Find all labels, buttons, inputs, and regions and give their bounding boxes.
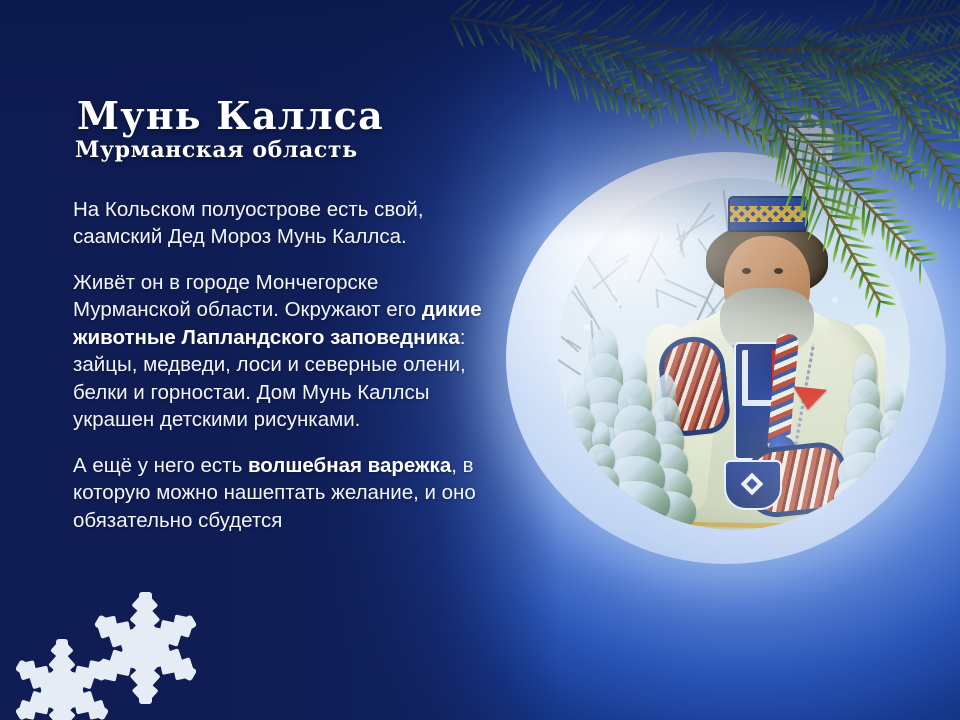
pine-needle — [849, 70, 864, 85]
pine-needle — [937, 49, 960, 77]
pine-needle — [616, 45, 646, 57]
pine-needle — [732, 56, 755, 104]
pine-needle — [623, 89, 644, 96]
pine-needle — [803, 29, 822, 50]
pine-needle — [597, 45, 607, 73]
pine-needle — [770, 95, 819, 102]
pine-needle — [880, 62, 899, 77]
pine-needle — [830, 52, 846, 88]
pine-needle — [807, 30, 834, 44]
page-subtitle: Мурманская область — [75, 138, 498, 162]
pine-needle — [765, 49, 791, 87]
pine-needle — [687, 1, 729, 50]
pine-needle — [596, 37, 622, 74]
pine-needle — [766, 21, 799, 62]
pine-needle — [816, 93, 851, 101]
pine-needle — [956, 106, 960, 117]
pine-needle — [869, 33, 886, 50]
pine-needle — [917, 79, 955, 97]
pine-needle — [727, 25, 746, 50]
pine-needle — [893, 60, 924, 88]
pine-needle — [588, 40, 600, 66]
pine-needle — [710, 41, 715, 61]
pine-needle — [751, 88, 759, 134]
pine-needle — [843, 114, 886, 123]
pine-needle — [622, 94, 630, 116]
pine-needle — [755, 90, 774, 97]
pine-needle — [613, 89, 619, 114]
pine-needle — [698, 51, 724, 109]
pine-needle — [821, 32, 839, 51]
body-text: На Кольском полуострове есть свой, саамс… — [73, 196, 498, 535]
pine-needle — [902, 116, 909, 141]
pine-needle — [938, 13, 960, 33]
pine-needle — [752, 126, 774, 133]
pine-needle — [831, 48, 845, 67]
pine-needle — [727, 48, 755, 81]
pine-needle — [687, 49, 721, 109]
pine-needle — [907, 115, 940, 122]
pine-needle — [933, 97, 955, 104]
pine-needle — [905, 0, 927, 21]
pine-needle — [894, 71, 934, 85]
body-text-run: А ещё у него есть — [73, 454, 248, 477]
pine-needle — [789, 63, 809, 93]
pine-needle — [878, 63, 902, 86]
pine-needle — [605, 75, 627, 85]
pine-needle — [857, 59, 876, 75]
pine-needle — [812, 49, 827, 69]
pine-needle — [755, 48, 783, 75]
pine-twig — [690, 48, 870, 51]
pine-needle — [915, 24, 932, 56]
pine-needle — [947, 111, 956, 130]
pine-needle — [945, 47, 960, 66]
pine-needle — [721, 54, 747, 95]
pine-needle — [880, 0, 899, 25]
pine-needle — [643, 57, 690, 73]
pine-needle — [634, 51, 674, 67]
pine-needle — [925, 90, 954, 101]
pine-needle — [630, 0, 677, 43]
pine-needle — [886, 27, 907, 62]
pine-needle — [579, 50, 622, 70]
pine-needle — [891, 58, 914, 79]
pine-needle — [679, 77, 712, 91]
snowflake-sub-branch — [22, 707, 36, 719]
pine-needle — [597, 4, 637, 39]
pine-needle — [709, 52, 749, 107]
pine-needle — [861, 68, 879, 110]
pine-needle — [766, 60, 791, 113]
pine-needle — [578, 68, 589, 99]
pine-needle — [901, 58, 936, 85]
pine-needle — [914, 80, 927, 105]
pine-needle — [696, 100, 709, 137]
pine-needle — [822, 49, 830, 79]
pine-needle — [902, 63, 925, 81]
pine-needle — [929, 0, 945, 16]
pine-twig — [840, 6, 960, 33]
pine-needle — [653, 45, 686, 104]
pine-needle — [932, 103, 943, 124]
pine-needle — [720, 44, 746, 49]
pine-needle — [850, 35, 866, 51]
pine-needle — [775, 68, 782, 90]
pine-needle — [585, 2, 631, 37]
pine-needle — [783, 72, 812, 76]
pine-needle — [750, 80, 770, 87]
pine-needle — [846, 40, 888, 62]
pine-needle — [892, 84, 901, 121]
pine-needle — [908, 28, 929, 58]
pine-needle — [846, 60, 860, 108]
pine-needle — [706, 99, 738, 107]
pine-needle — [579, 35, 586, 57]
pine-needle — [739, 74, 747, 107]
pine-needle — [784, 14, 814, 50]
pine-needle — [886, 61, 921, 82]
pine-needle — [839, 30, 851, 41]
pine-needle — [841, 48, 855, 66]
pine-needle — [876, 141, 903, 149]
pine-needle — [812, 31, 829, 51]
pine-needle — [838, 56, 852, 101]
pine-needle — [913, 123, 947, 133]
pine-needle — [755, 18, 793, 61]
pine-needle — [573, 34, 606, 90]
pine-needle — [619, 5, 662, 42]
pine-needle — [651, 75, 663, 124]
pine-needle — [839, 16, 851, 32]
pine-needle — [823, 40, 852, 50]
pine-needle — [751, 131, 760, 154]
pine-needle — [946, 12, 960, 24]
pine-needle — [625, 49, 669, 62]
pine-needle — [751, 72, 794, 82]
pine-needle — [562, 32, 584, 72]
pine-needle — [889, 22, 913, 48]
pine-needle — [664, 46, 701, 104]
pine-needle — [569, 63, 579, 102]
pine-needle — [736, 48, 766, 80]
pine-needle — [642, 43, 675, 86]
pine-needle — [955, 181, 960, 187]
pine-needle — [885, 80, 902, 117]
pine-needle — [688, 85, 727, 97]
pine-needle — [736, 26, 759, 50]
pine-needle — [902, 106, 931, 113]
pine-needle — [648, 109, 653, 129]
pine-needle — [650, 102, 668, 111]
pine-needle — [871, 65, 898, 91]
pine-needle — [588, 67, 616, 75]
pine-needle — [793, 48, 820, 76]
pine-needle — [614, 83, 632, 91]
pine-needle — [714, 111, 721, 133]
pine-twig — [850, 36, 960, 73]
pine-needle — [834, 47, 857, 71]
para-2: Живёт он в городе Мончегорске Мурманской… — [73, 269, 498, 434]
pine-needle — [872, 25, 903, 52]
pine-needle — [606, 50, 616, 79]
pine-needle — [630, 42, 654, 83]
pine-needle — [937, 22, 951, 51]
pine-needle — [930, 50, 958, 68]
pine-needle — [579, 29, 597, 38]
pine-needle — [733, 26, 771, 57]
pine-needle — [758, 83, 801, 90]
pine-needle — [641, 97, 662, 106]
pine-needle — [597, 70, 633, 80]
pine-needle — [863, 48, 878, 69]
pine-needle — [789, 32, 816, 65]
ornament-cap-crown-teeth — [786, 150, 832, 166]
pine-needle — [560, 58, 576, 101]
pine-needle — [619, 40, 654, 86]
pine-needle — [923, 52, 959, 82]
pine-needle — [793, 25, 818, 50]
slide-root: Мунь Каллса Мурманская область На Кольск… — [0, 0, 960, 720]
pine-needle — [845, 71, 858, 93]
pine-needle — [769, 63, 774, 80]
pine-needle — [815, 35, 847, 46]
pine-needle — [563, 7, 598, 34]
pine-needle — [850, 113, 894, 127]
pine-needle — [837, 110, 881, 117]
pine-needle — [831, 36, 846, 50]
pine-needle — [877, 76, 893, 112]
pine-needle — [710, 18, 758, 55]
pine-needle — [888, 0, 904, 24]
pine-needle — [922, 25, 939, 54]
pine-needle — [789, 79, 796, 115]
pine-needle — [795, 84, 798, 113]
pine-needle — [886, 61, 935, 82]
pine-needle — [856, 49, 866, 70]
pine-needle — [778, 36, 808, 64]
pine-needle — [868, 74, 887, 101]
pine-needle — [924, 100, 935, 134]
pine-needle — [869, 49, 880, 64]
pine-needle — [615, 55, 628, 98]
pine-needle — [901, 71, 933, 89]
pine-needle — [570, 49, 612, 65]
pine-needle — [803, 82, 843, 92]
pine-needle — [913, 18, 940, 45]
pine-needle — [596, 79, 609, 113]
para-3: А ещё у него есть волшебная варежка, в к… — [73, 452, 498, 535]
pine-needle — [957, 190, 960, 209]
pine-needle — [856, 123, 891, 132]
pine-needle — [847, 15, 859, 31]
pine-needle — [751, 94, 765, 143]
pine-needle — [765, 22, 794, 50]
pine-needle — [745, 66, 782, 75]
pine-needle — [859, 49, 870, 63]
pine-needle — [948, 68, 960, 86]
pine-needle — [930, 15, 950, 36]
pine-needle — [938, 0, 952, 15]
pine-needle — [775, 25, 803, 50]
pine-needle — [940, 97, 960, 109]
pine-needle — [699, 9, 754, 53]
pine-needle — [869, 72, 883, 112]
pine-needle — [921, 0, 940, 18]
pine-needle — [774, 49, 800, 85]
pine-needle — [890, 90, 907, 94]
pine-needle — [806, 41, 818, 65]
snowflake-small-icon — [8, 636, 116, 720]
pine-needle — [675, 48, 703, 97]
pine-needle — [893, 25, 912, 62]
pine-needle — [841, 37, 855, 50]
pine-needle — [676, 11, 710, 50]
pine-needle — [854, 64, 871, 100]
pine-needle — [856, 27, 875, 44]
pine-needle — [717, 49, 737, 76]
pine-needle — [604, 84, 614, 112]
pine-needle — [871, 35, 889, 67]
pine-needle — [810, 88, 842, 96]
pine-needle — [742, 81, 751, 98]
pine-needle — [776, 62, 801, 71]
pine-needle — [944, 24, 960, 49]
pine-needle — [739, 60, 780, 69]
pine-needle — [925, 64, 951, 84]
pine-needle — [870, 59, 912, 74]
pine-needle — [857, 68, 877, 84]
pine-needle — [607, 39, 639, 53]
pine-needle — [862, 51, 895, 69]
pine-needle — [744, 12, 786, 59]
pine-needle — [857, 73, 871, 96]
pine-needle — [815, 45, 825, 68]
pine-needle — [624, 60, 639, 94]
pine-needle — [748, 100, 763, 129]
pine-needle — [796, 79, 831, 86]
pine-needle — [697, 92, 732, 102]
pine-needle — [762, 119, 774, 146]
text-column: Мунь Каллса Мурманская область На Кольск… — [73, 96, 498, 534]
pine-needle — [948, 182, 957, 210]
para-1: На Кольском полуострове есть свой, саамс… — [73, 196, 498, 251]
pine-needle — [670, 73, 704, 87]
snow-covered-tree — [574, 422, 628, 530]
pine-needle — [800, 65, 825, 107]
pine-needle — [864, 26, 893, 47]
pine-needle — [743, 57, 770, 92]
pine-needle — [880, 23, 910, 50]
pine-needle — [688, 95, 700, 135]
pine-needle — [902, 79, 918, 102]
pine-needle — [897, 20, 936, 46]
pine-needle — [955, 116, 960, 139]
pine-needle — [664, 0, 716, 48]
pine-needle — [799, 25, 821, 38]
pine-needle — [762, 110, 769, 141]
pine-needle — [909, 72, 944, 93]
pine-needle — [652, 67, 698, 78]
pine-needle — [760, 101, 771, 149]
pine-needle — [811, 67, 832, 108]
pine-needle — [913, 60, 935, 82]
pine-needle — [706, 105, 717, 132]
pine-needle — [742, 126, 753, 149]
pine-needle — [717, 23, 744, 51]
pine-needle — [930, 25, 942, 52]
pine-needle — [921, 16, 947, 36]
pine-needle — [746, 20, 773, 50]
pine-needle — [830, 98, 879, 112]
pine-needle — [689, 35, 701, 50]
pine-needle — [878, 56, 926, 77]
pine-needle — [940, 107, 950, 130]
pine-needle — [916, 96, 922, 127]
pine-needle — [790, 77, 821, 80]
pine-needle — [724, 105, 750, 118]
pine-needle — [770, 57, 790, 65]
pine-needle — [715, 102, 739, 112]
pine-needle — [952, 28, 960, 47]
pine-needle — [733, 58, 760, 63]
pine-needle — [746, 91, 757, 114]
pine-needle — [952, 45, 960, 62]
pine-needle — [642, 70, 654, 118]
pine-needle — [936, 84, 956, 111]
pine-needle — [761, 99, 791, 109]
pine-needle — [661, 66, 708, 83]
pine-twig — [579, 34, 770, 143]
pine-needle — [732, 121, 741, 142]
emphasis-text: волшебная варежка — [248, 454, 451, 477]
pine-needle — [925, 139, 960, 143]
pine-needle — [632, 92, 648, 101]
pine-needle — [822, 49, 836, 66]
body-text-run: На Кольском полуострове есть свой, саамс… — [73, 198, 424, 249]
pine-needle — [729, 61, 734, 95]
pine-needle — [803, 49, 827, 75]
pine-needle — [589, 35, 609, 41]
pine-needle — [893, 100, 898, 117]
pine-needle — [642, 14, 679, 45]
pine-needle — [742, 119, 758, 128]
pine-needle — [653, 10, 688, 47]
pine-needle — [855, 7, 874, 30]
pine-needle — [831, 37, 861, 54]
pine-needle — [721, 55, 728, 85]
pine-needle — [868, 57, 889, 77]
pine-needle — [872, 0, 895, 27]
pine-needle — [849, 57, 858, 72]
pine-needle — [948, 103, 960, 112]
pine-needle — [915, 54, 948, 80]
pine-needle — [823, 94, 862, 106]
pine-needle — [719, 48, 722, 76]
pine-needle — [585, 35, 614, 87]
pine-needle — [631, 99, 638, 113]
pine-needle — [678, 90, 695, 138]
pine-needle — [908, 92, 922, 128]
pine-needle — [699, 48, 714, 62]
pine-needle — [870, 136, 901, 143]
pine-needle — [755, 59, 780, 95]
pine-needle — [863, 0, 879, 28]
pine-needle — [801, 45, 828, 67]
pine-needle — [608, 38, 639, 89]
pine-needle — [878, 33, 894, 65]
pine-needle — [633, 65, 642, 112]
